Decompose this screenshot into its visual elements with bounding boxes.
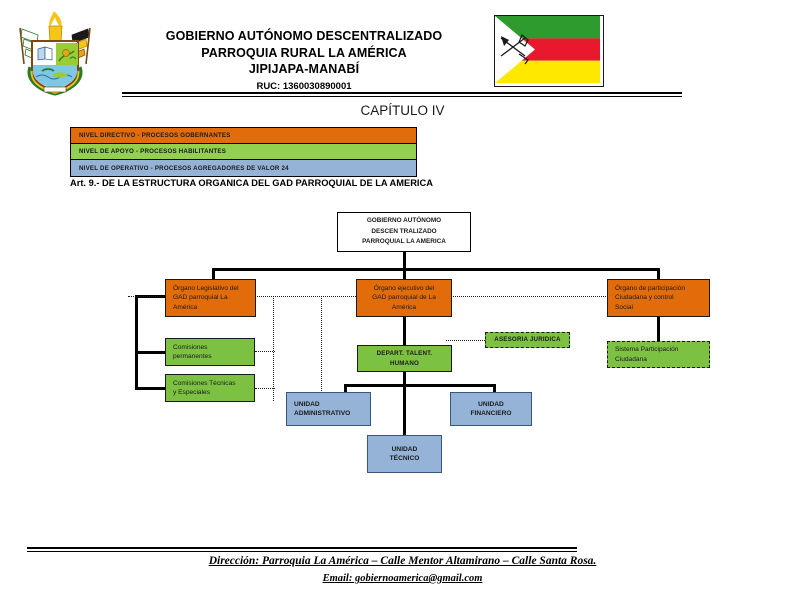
node-departamento-talento-humano[interactable]: DEPART. TALENT. HUMANO xyxy=(357,345,452,372)
node-talento-humano-line-2: HUMANO xyxy=(358,359,451,369)
node-talento-humano-line-1: DEPART. TALENT. xyxy=(358,349,451,359)
dotted-edge-vertical-left xyxy=(273,296,274,401)
node-organo-ejecutivo[interactable]: Órgano ejecutivo del GAD parroquial de L… xyxy=(356,279,452,317)
edge-root-bus xyxy=(212,268,660,271)
node-unidad-tecnico[interactable]: UNIDAD TÉCNICO xyxy=(367,435,442,473)
node-comisiones-permanentes-line-2: permanentes xyxy=(173,352,254,362)
node-participacion-line-3: Social xyxy=(615,303,709,313)
node-unidad-financiero[interactable]: UNIDAD FINANCIERO xyxy=(450,392,532,426)
node-legislativo-line-2: GAD parroquial La xyxy=(173,293,255,303)
footer-email[interactable]: Email: gobiernoamerica@gmail.com xyxy=(0,570,805,587)
node-root-line-1: GOBIERNO AUTÓNOMO xyxy=(338,216,470,227)
dotted-edge-ejecutivo-to-asesoria xyxy=(446,340,487,341)
node-organo-participacion[interactable]: Órgano de participación Ciudadana y cont… xyxy=(607,279,710,317)
dotted-edge-to-comisiones-permanentes xyxy=(255,351,275,352)
node-sistema-participacion-line-2: Ciudadana xyxy=(615,355,709,365)
node-participacion-line-2: Ciudadana y control xyxy=(615,293,709,303)
node-unidad-financiero-line-1: UNIDAD xyxy=(451,400,531,410)
node-comisiones-tecnicas[interactable]: Comisiones Técnicas y Especiales xyxy=(165,374,255,402)
node-unidad-administrativo-line-2: ADMINISTRATIVO xyxy=(294,409,370,419)
node-comisiones-permanentes-line-1: Comisiones xyxy=(173,343,254,353)
node-sistema-participacion-line-1: Sistema Participación xyxy=(615,345,709,355)
node-asesoria-juridica-label: ASESORIA JURIDICA xyxy=(486,335,569,345)
node-unidad-tecnico-line-1: UNIDAD xyxy=(368,445,441,455)
node-ejecutivo-line-2: GAD parroquial de La xyxy=(357,293,451,303)
node-unidad-tecnico-line-2: TÉCNICO xyxy=(368,454,441,464)
node-comisiones-tecnicas-line-1: Comisiones Técnicas xyxy=(173,379,254,389)
node-legislativo-line-3: América xyxy=(173,303,255,313)
footer-address: Dirección: Parroquia La América – Calle … xyxy=(0,553,805,570)
node-sistema-participacion[interactable]: Sistema Participación Ciudadana xyxy=(607,341,710,368)
node-organo-legislativo[interactable]: Órgano Legislativo del GAD parroquial La… xyxy=(165,279,256,317)
dotted-edge-vertical-mid xyxy=(321,296,322,401)
org-chart: GOBIERNO AUTÓNOMO DESCEN TRALIZADO PARRO… xyxy=(0,0,805,609)
node-comisiones-permanentes[interactable]: Comisiones permanentes xyxy=(165,338,255,366)
dotted-edge-to-comisiones-tecnicas xyxy=(255,388,275,389)
document-page: GOBIERNO AUTÓNOMO DESCENTRALIZADO PARROQ… xyxy=(0,0,805,609)
node-ejecutivo-line-3: América xyxy=(357,303,451,313)
edge-ejecutivo-to-talento xyxy=(403,316,406,345)
node-unidad-financiero-line-2: FINANCIERO xyxy=(451,409,531,419)
node-unidad-administrativo-line-1: UNIDAD xyxy=(294,400,370,410)
node-root[interactable]: GOBIERNO AUTÓNOMO DESCEN TRALIZADO PARRO… xyxy=(337,212,471,252)
edge-participacion-to-sistema xyxy=(657,316,660,342)
node-root-line-2: DESCEN TRALIZADO xyxy=(338,227,470,238)
node-root-line-3: PARROQUIAL LA AMERICA xyxy=(338,237,470,248)
edge-talento-bus xyxy=(344,384,496,387)
node-participacion-line-1: Órgano de participación xyxy=(615,284,709,294)
document-footer: Dirección: Parroquia La América – Calle … xyxy=(0,553,805,587)
node-ejecutivo-line-1: Órgano ejecutivo del xyxy=(357,284,451,294)
edge-to-comisiones-permanentes xyxy=(135,351,167,354)
node-comisiones-tecnicas-line-2: y Especiales xyxy=(173,388,254,398)
node-unidad-administrativo[interactable]: UNIDAD ADMINISTRATIVO xyxy=(286,392,371,426)
node-asesoria-juridica[interactable]: ASESORIA JURIDICA xyxy=(485,332,570,348)
edge-to-comisiones-tecnicas xyxy=(135,387,167,390)
edge-legislativo-spine xyxy=(135,295,138,390)
node-legislativo-line-1: Órgano Legislativo del xyxy=(173,284,255,294)
edge-to-unidad-tecnico xyxy=(403,384,406,438)
